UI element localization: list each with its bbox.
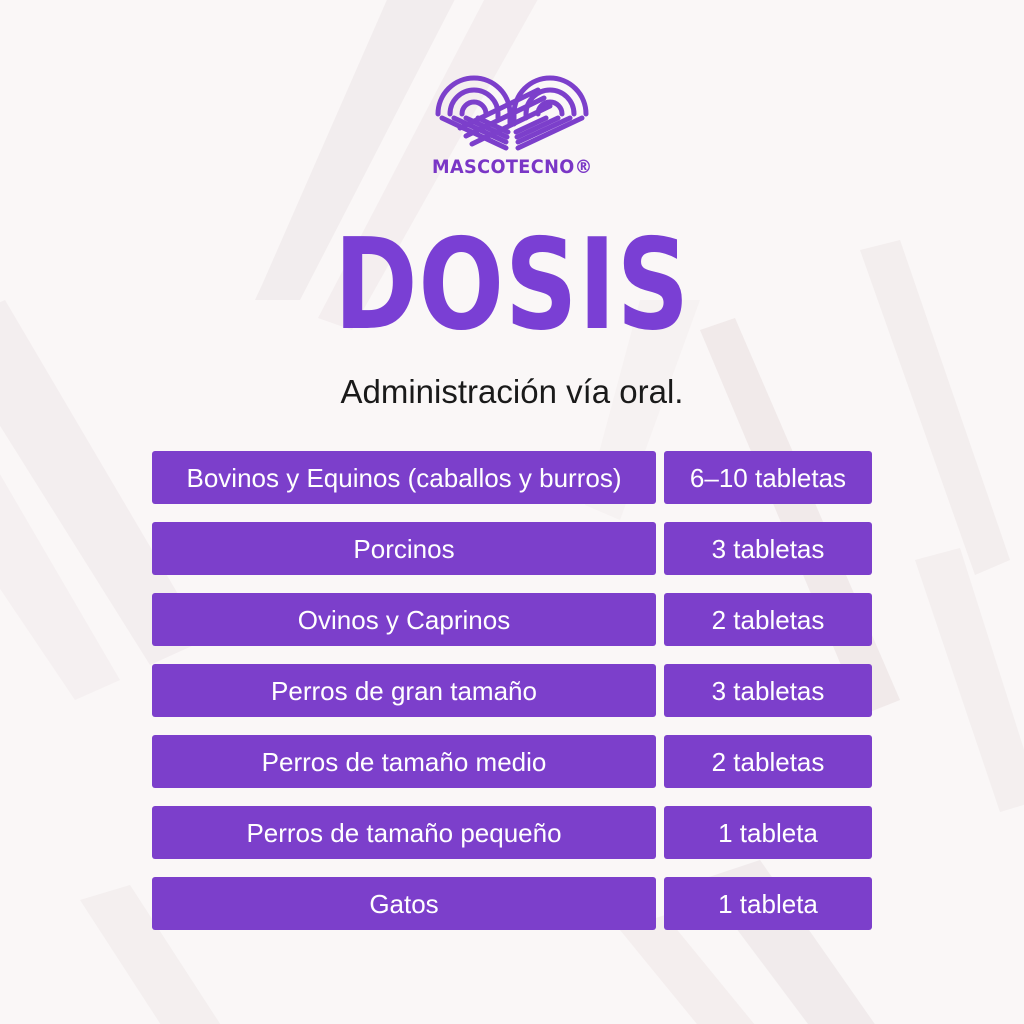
- dose-cell: 3 tabletas: [664, 522, 872, 575]
- dosis-poster: MASCOTECNO® DOSIS Administración vía ora…: [0, 0, 1024, 1024]
- dose-cell: 1 tableta: [664, 806, 872, 859]
- species-cell: Bovinos y Equinos (caballos y burros): [152, 451, 656, 504]
- species-cell: Perros de gran tamaño: [152, 664, 656, 717]
- mascotecno-heart-infinity-logo: [432, 52, 592, 152]
- dose-cell: 6–10 tabletas: [664, 451, 872, 504]
- dose-cell: 2 tabletas: [664, 593, 872, 646]
- species-cell: Perros de tamaño pequeño: [152, 806, 656, 859]
- page-title: DOSIS: [102, 222, 921, 348]
- brand-logo: MASCOTECNO®: [0, 52, 1024, 178]
- table-row: Porcinos 3 tabletas: [152, 522, 872, 575]
- table-row: Perros de tamaño medio 2 tabletas: [152, 735, 872, 788]
- brand-wordmark: MASCOTECNO®: [432, 156, 593, 178]
- dose-cell: 3 tabletas: [664, 664, 872, 717]
- table-row: Perros de gran tamaño 3 tabletas: [152, 664, 872, 717]
- page-subtitle: Administración vía oral.: [0, 372, 1024, 412]
- species-cell: Ovinos y Caprinos: [152, 593, 656, 646]
- dose-cell: 1 tableta: [664, 877, 872, 930]
- dose-cell: 2 tabletas: [664, 735, 872, 788]
- dose-table: Bovinos y Equinos (caballos y burros) 6–…: [152, 451, 872, 930]
- species-cell: Porcinos: [152, 522, 656, 575]
- table-row: Ovinos y Caprinos 2 tabletas: [152, 593, 872, 646]
- species-cell: Perros de tamaño medio: [152, 735, 656, 788]
- species-cell: Gatos: [152, 877, 656, 930]
- table-row: Gatos 1 tableta: [152, 877, 872, 930]
- table-row: Perros de tamaño pequeño 1 tableta: [152, 806, 872, 859]
- table-row: Bovinos y Equinos (caballos y burros) 6–…: [152, 451, 872, 504]
